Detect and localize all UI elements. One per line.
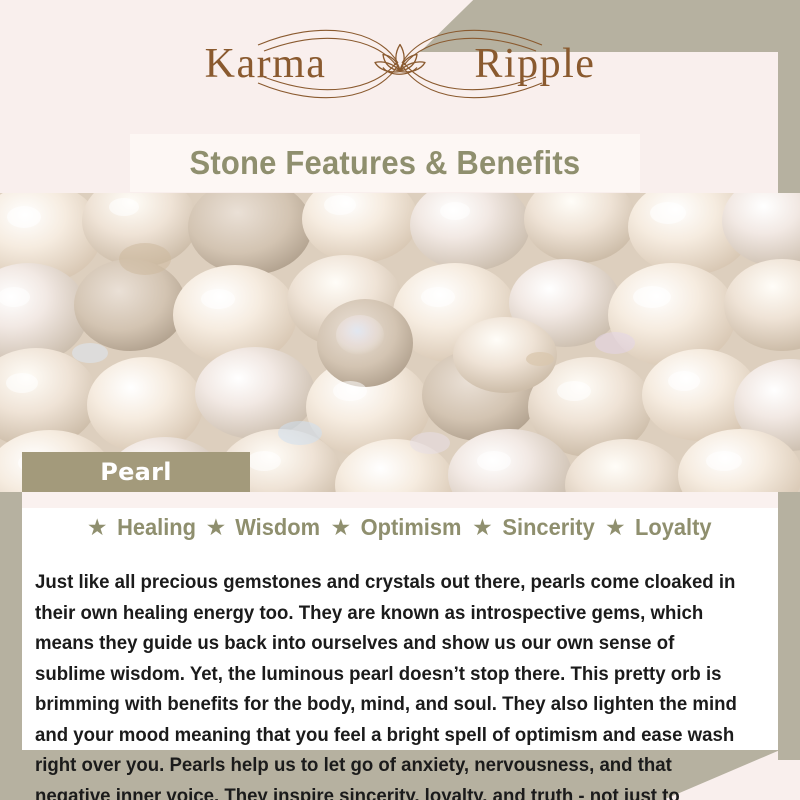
- brand-word-karma: Karma: [205, 43, 327, 85]
- benefits-list: ★ Healing ★ Wisdom ★ Optimism ★ Sincerit…: [22, 514, 778, 541]
- brand-logo: Karma Ripple: [0, 0, 800, 128]
- benefit-item-wisdom: ★ Wisdom: [206, 514, 323, 541]
- benefit-label: Sincerity: [502, 514, 594, 541]
- page-title: Stone Features & Benefits: [190, 144, 581, 182]
- card-top-tint: [22, 492, 778, 508]
- logo-lockup: Karma Ripple: [170, 21, 630, 107]
- star-icon: ★: [87, 516, 108, 539]
- benefit-item-healing: ★ Healing: [87, 514, 198, 541]
- benefit-label: Wisdom: [235, 514, 320, 541]
- benefit-item-loyalty: ★ Loyalty: [605, 514, 713, 541]
- benefit-label: Healing: [117, 514, 196, 541]
- stone-benefits-infographic: Karma Ripple Stone Features & Benefits: [0, 0, 800, 800]
- frame-band-left: [0, 490, 22, 800]
- benefit-item-sincerity: ★ Sincerity: [472, 514, 597, 541]
- brand-word-ripple: Ripple: [474, 43, 595, 85]
- stone-name-label: Pearl: [22, 452, 250, 492]
- pearl-photo: [0, 193, 800, 492]
- star-icon: ★: [206, 516, 227, 539]
- pearl-photo-illustration: [0, 193, 800, 492]
- stone-name-text: Pearl: [100, 458, 172, 486]
- benefit-label: Loyalty: [635, 514, 712, 541]
- star-icon: ★: [605, 516, 626, 539]
- lotus-icon: [371, 40, 429, 89]
- description-card: ★ Healing ★ Wisdom ★ Optimism ★ Sincerit…: [22, 492, 778, 750]
- description-text: Just like all precious gemstones and cry…: [35, 567, 740, 800]
- title-banner: Stone Features & Benefits: [130, 134, 640, 192]
- benefit-label: Optimism: [361, 514, 462, 541]
- star-icon: ★: [330, 516, 351, 539]
- benefit-item-optimism: ★ Optimism: [330, 514, 464, 541]
- star-icon: ★: [472, 516, 493, 539]
